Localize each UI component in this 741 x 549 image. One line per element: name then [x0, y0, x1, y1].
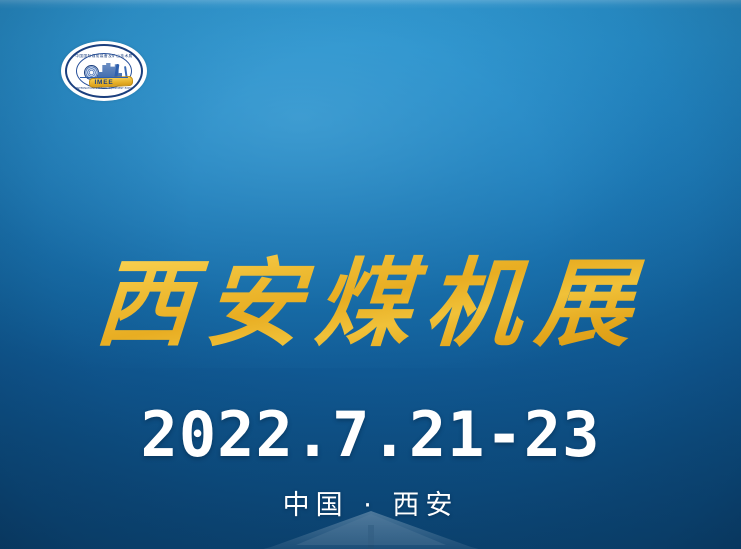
- logo-divider: [80, 77, 127, 78]
- logo-mid-ring: 中国国际煤炭装备及矿山技术展 IMEE INTERNATIONAL MINING…: [65, 44, 143, 98]
- logo-arc-text-bottom: INTERNATIONAL MINING EQUIPMENT EXPO: [67, 87, 141, 90]
- logo-arc-text-top: 中国国际煤炭装备及矿山技术展: [67, 54, 141, 59]
- logo-acronym: IMEE: [67, 79, 141, 86]
- poster-location: 中国 · 西安: [0, 488, 741, 524]
- poster-main-title: 西安煤机展: [0, 248, 741, 360]
- poster-canvas: 中国国际煤炭装备及矿山技术展 IMEE INTERNATIONAL MINING…: [0, 0, 741, 549]
- imee-logo[interactable]: 中国国际煤炭装备及矿山技术展 IMEE INTERNATIONAL MINING…: [61, 41, 147, 101]
- poster-date: 2022.7.21-23: [0, 398, 741, 472]
- poster-subtitle: 2022年煤机行业首展: [0, 180, 741, 240]
- top-light-band: [0, 0, 741, 9]
